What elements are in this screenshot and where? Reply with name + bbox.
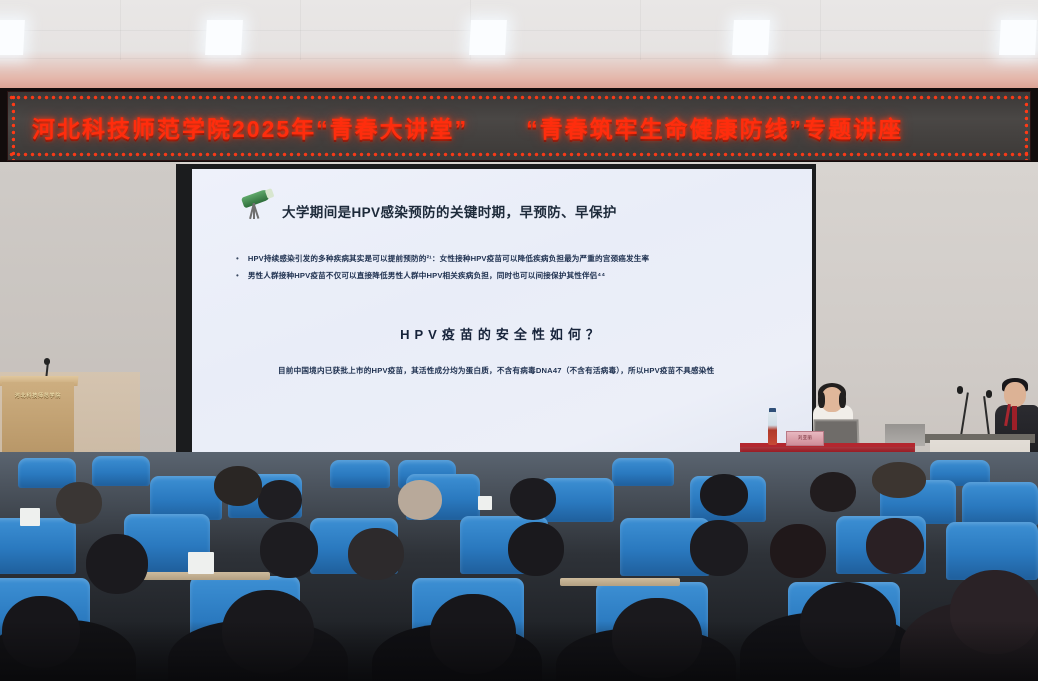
- led-border-dots-bottom: [8, 151, 1030, 158]
- handout-paper: [20, 508, 40, 526]
- led-border-dots-left: [10, 94, 15, 160]
- slide-bullet-text: HPV持续感染引发的多种疾病其实是可以提前预防的²¹：女性接种HPV疫苗可以降低…: [248, 253, 649, 265]
- audience-head: [770, 524, 826, 578]
- speaker-name-card-text: 刘亚丽: [787, 435, 823, 441]
- row-desk: [560, 578, 680, 586]
- slide-title: 大学期间是HPV感染预防的关键时期，早预防、早保护: [282, 201, 617, 221]
- host-tie: [1012, 406, 1017, 430]
- seated-speaker-hair-side: [818, 392, 825, 408]
- audience-head: [872, 462, 926, 498]
- auditorium-seat: [0, 518, 76, 574]
- lecture-hall-photo: 河北科技师范学院2025年“青春大讲堂” “青春筑牢生命健康防线”专题讲座 大学…: [0, 0, 1038, 681]
- audience-head: [510, 478, 556, 520]
- ceiling-panel-light: [205, 20, 243, 55]
- auditorium-seat: [612, 458, 674, 486]
- auditorium-seat: [962, 482, 1038, 526]
- slide-bullet-item: • HPV持续感染引发的多种疾病其实是可以提前预防的²¹：女性接种HPV疫苗可以…: [236, 253, 790, 265]
- audience-head: [260, 522, 318, 578]
- ceiling-panel-light: [999, 20, 1037, 55]
- auditorium-seat: [330, 460, 390, 488]
- audience-head: [258, 480, 302, 520]
- audience-head: [214, 466, 262, 506]
- slide-bullet-item: • 男性人群接种HPV疫苗不仅可以直接降低男性人群中HPV相关疾病负担，同时也可…: [236, 270, 790, 282]
- ceiling: [0, 0, 1038, 92]
- water-bottle: [768, 412, 777, 445]
- audience-head: [86, 534, 148, 594]
- bullet-dot-icon: •: [236, 270, 239, 282]
- lectern-microphone-head-icon: [44, 358, 50, 365]
- led-banner: 河北科技师范学院2025年“青春大讲堂” “青春筑牢生命健康防线”专题讲座: [0, 88, 1038, 164]
- ceiling-panel-light: [0, 20, 25, 55]
- seated-speaker-hair-side: [839, 392, 846, 408]
- bullet-dot-icon: •: [236, 253, 239, 265]
- slide-bullet-list: • HPV持续感染引发的多种疾病其实是可以提前预防的²¹：女性接种HPV疫苗可以…: [236, 253, 790, 287]
- audience-head: [690, 520, 748, 576]
- handout-paper: [478, 496, 492, 510]
- slide-bullet-text: 男性人群接种HPV疫苗不仅可以直接降低男性人群中HPV相关疾病负担，同时也可以间…: [248, 270, 605, 282]
- ceiling-panel-light: [732, 20, 770, 55]
- audience-head: [398, 480, 442, 520]
- foreground-shadow: [0, 621, 1038, 681]
- auditorium-seat: [92, 456, 150, 486]
- audience-head: [348, 528, 404, 580]
- microphone-head-icon: [957, 386, 963, 394]
- led-board: 河北科技师范学院2025年“青春大讲堂” “青春筑牢生命健康防线”专题讲座: [7, 91, 1031, 161]
- led-border-dots-right: [1023, 94, 1028, 160]
- audience-head: [56, 482, 102, 524]
- speaker-name-card: 刘亚丽: [786, 431, 824, 446]
- slide-paragraph: 目前中国境内已获批上市的HPV疫苗，其活性成分均为蛋白质，不含有病毒DNA47（…: [278, 364, 748, 378]
- slide-question-heading: HPV疫苗的安全性如何？: [192, 324, 812, 343]
- telescope-icon: [240, 191, 274, 221]
- audience-head: [866, 518, 924, 574]
- ceiling-panel-light: [469, 20, 507, 55]
- lectern-institution-text: 河北科技师范学院: [6, 392, 70, 399]
- microphone-head-icon: [986, 390, 992, 398]
- led-banner-text-right: “青春筑牢生命健康防线”专题讲座: [526, 118, 903, 141]
- led-banner-text-left: 河北科技师范学院2025年“青春大讲堂”: [32, 118, 468, 141]
- handout-paper: [188, 552, 214, 574]
- audience-head: [810, 472, 856, 512]
- projection-screen-frame: 大学期间是HPV感染预防的关键时期，早预防、早保护 • HPV持续感染引发的多种…: [176, 164, 816, 494]
- projection-screen: 大学期间是HPV感染预防的关键时期，早预防、早保护 • HPV持续感染引发的多种…: [192, 169, 812, 491]
- audience-head: [700, 474, 748, 516]
- led-border-dots-top: [8, 94, 1030, 101]
- audience-head: [508, 522, 564, 576]
